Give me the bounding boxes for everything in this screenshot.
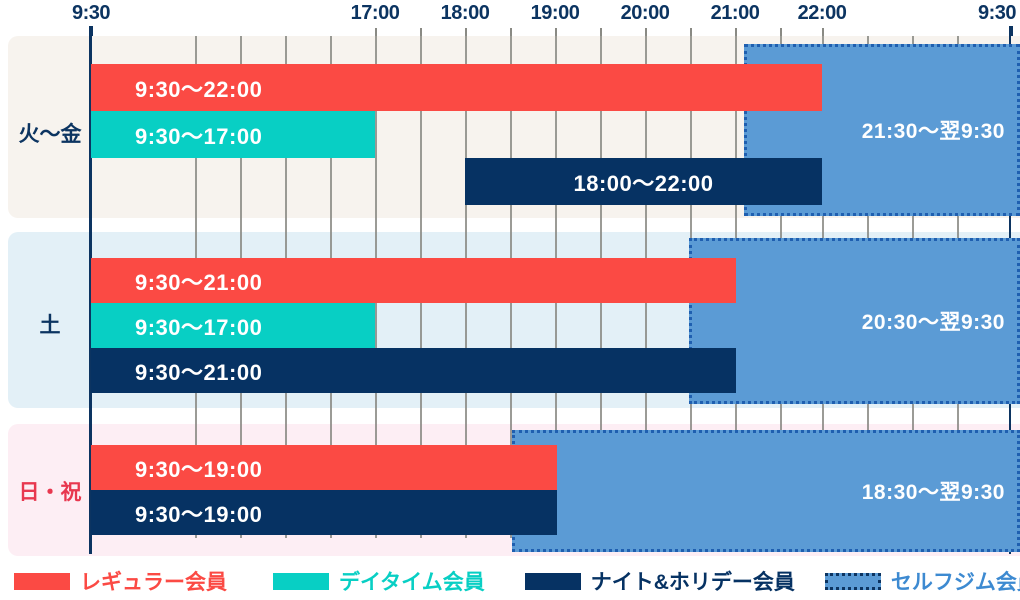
bar-label-weekday-daytime: 9:30〜17:00 <box>91 119 262 151</box>
axis-label-1800: 18:00 <box>441 2 490 25</box>
row-label-weekday: 火〜金 <box>8 118 92 148</box>
bar-label-sunday-regular: 9:30〜19:00 <box>91 452 262 484</box>
legend-item-selfgym[interactable]: セルフジム会員 <box>825 566 1020 596</box>
bar-label-weekday-regular: 9:30〜22:00 <box>91 72 262 104</box>
selfgym-band-saturday[interactable]: 20:30〜翌9:30 <box>689 238 1020 404</box>
bar-sunday-night[interactable]: 9:30〜19:00 <box>91 490 557 535</box>
legend-label-regular: レギュラー会員 <box>80 566 227 596</box>
time-axis: 9:30 17:00 18:00 19:00 20:00 21:00 22:00… <box>0 0 1020 36</box>
axis-label-1700: 17:00 <box>351 2 400 25</box>
bar-saturday-daytime[interactable]: 9:30〜17:00 <box>91 303 375 348</box>
gym-schedule-chart: 9:30 17:00 18:00 19:00 20:00 21:00 22:00… <box>0 0 1020 600</box>
bar-weekday-night[interactable]: 18:00〜22:00 <box>465 158 822 205</box>
legend: レギュラー会員 デイタイム会員 ナイト&ホリデー会員 セルフジム会員 <box>0 562 1020 600</box>
axis-label-2100: 21:00 <box>711 2 760 25</box>
bar-label-saturday-regular: 9:30〜21:00 <box>91 265 262 297</box>
bar-label-saturday-daytime: 9:30〜17:00 <box>91 310 262 342</box>
bar-label-saturday-night: 9:30〜21:00 <box>91 355 262 387</box>
bar-weekday-daytime[interactable]: 9:30〜17:00 <box>91 111 375 158</box>
legend-label-selfgym: セルフジム会員 <box>891 566 1020 596</box>
legend-swatch-regular-icon <box>14 573 70 590</box>
row-label-sunday: 日・祝 <box>8 476 92 506</box>
selfgym-label-weekday: 21:30〜翌9:30 <box>862 115 1005 145</box>
timeline-plot: 火〜金 21:30〜翌9:30 9:30〜22:00 9:30〜17:00 18… <box>0 36 1020 560</box>
legend-swatch-night-icon <box>525 573 581 590</box>
bar-label-weekday-night: 18:00〜22:00 <box>573 166 713 198</box>
axis-label-1900: 19:00 <box>531 2 580 25</box>
legend-item-night[interactable]: ナイト&ホリデー会員 <box>525 566 795 596</box>
legend-item-regular[interactable]: レギュラー会員 <box>14 566 227 596</box>
axis-label-2200: 22:00 <box>798 2 847 25</box>
bar-saturday-regular[interactable]: 9:30〜21:00 <box>91 258 736 303</box>
axis-label-0930-start: 9:30 <box>72 2 110 25</box>
legend-item-daytime[interactable]: デイタイム会員 <box>273 566 485 596</box>
legend-label-daytime: デイタイム会員 <box>339 566 485 596</box>
axis-label-0930-end: 9:30 <box>978 2 1016 25</box>
bar-saturday-night[interactable]: 9:30〜21:00 <box>91 348 736 393</box>
selfgym-band-sunday[interactable]: 18:30〜翌9:30 <box>512 430 1020 552</box>
bar-weekday-regular[interactable]: 9:30〜22:00 <box>91 64 822 111</box>
legend-swatch-selfgym-icon <box>825 573 881 590</box>
bar-label-sunday-night: 9:30〜19:00 <box>91 497 262 529</box>
selfgym-label-saturday: 20:30〜翌9:30 <box>862 306 1005 336</box>
axis-label-2000: 20:00 <box>621 2 670 25</box>
legend-swatch-daytime-icon <box>273 573 329 590</box>
bar-sunday-regular[interactable]: 9:30〜19:00 <box>91 445 557 490</box>
legend-label-night: ナイト&ホリデー会員 <box>591 566 795 596</box>
selfgym-label-sunday: 18:30〜翌9:30 <box>862 476 1005 506</box>
row-label-saturday: 土 <box>8 309 92 339</box>
